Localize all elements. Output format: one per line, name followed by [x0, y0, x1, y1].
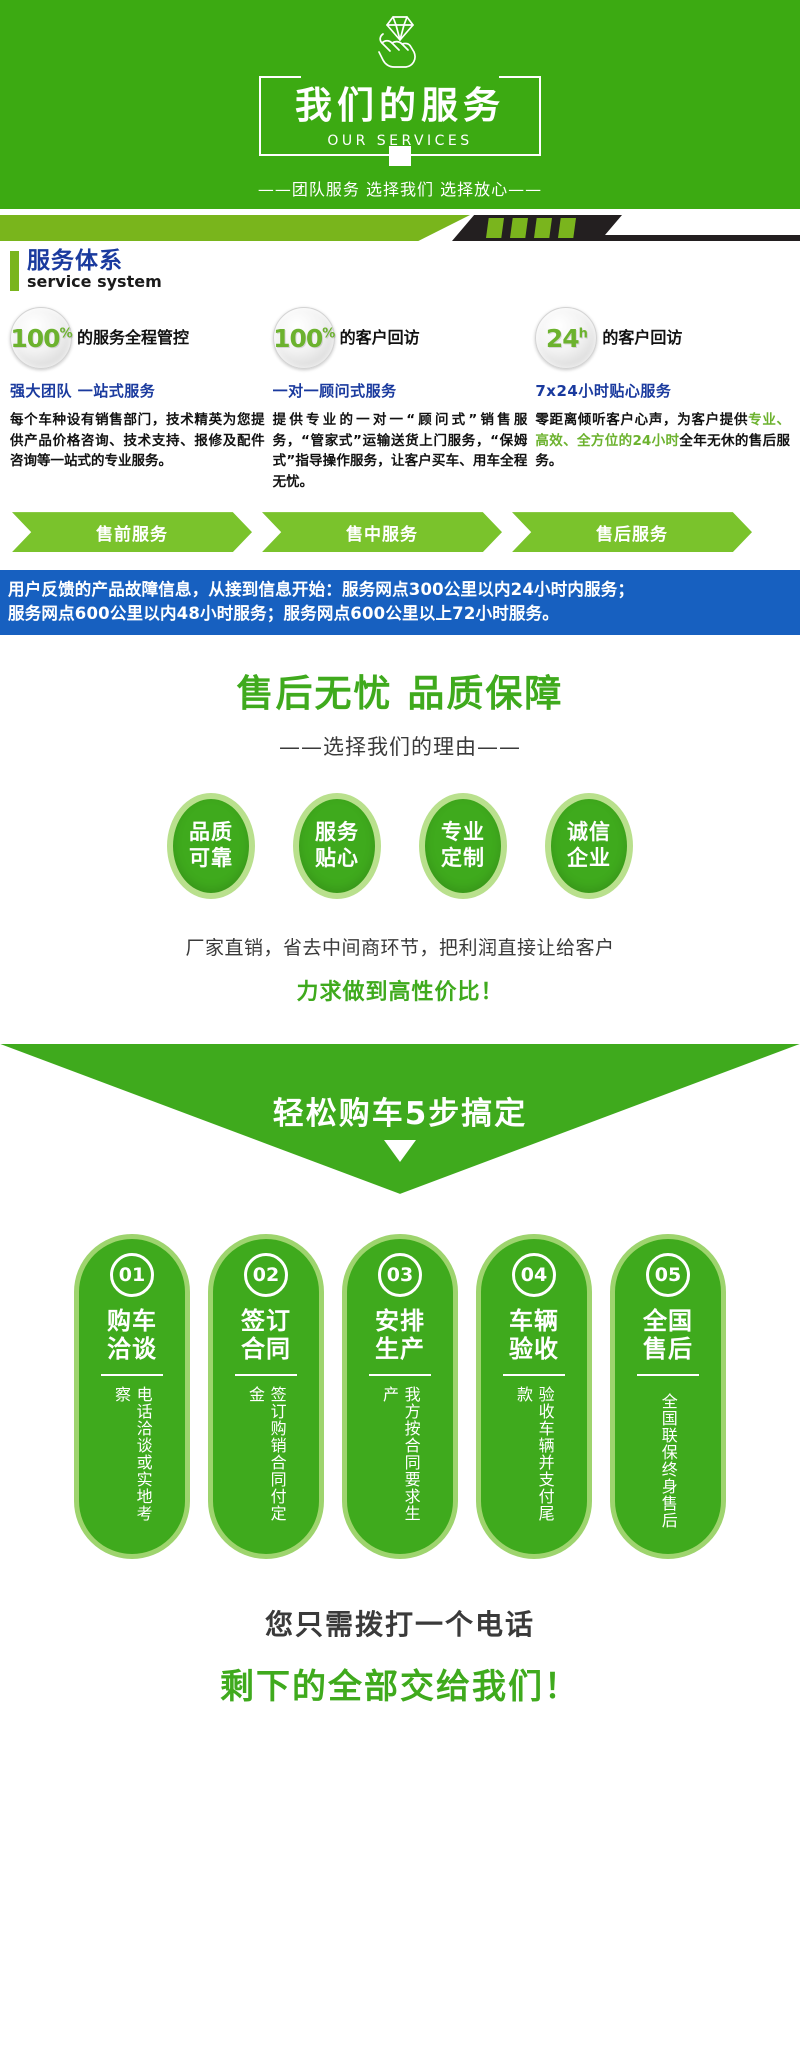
badge-value: 100% [10, 326, 71, 351]
step-title-line1: 全国 [643, 1307, 693, 1335]
step-divider [369, 1374, 431, 1376]
step-divider [235, 1374, 297, 1376]
step-title-line1: 安排 [375, 1307, 425, 1335]
diamond-hand-icon [369, 12, 431, 72]
section-title-en: service system [27, 273, 162, 291]
stripe-dash-3 [534, 218, 552, 238]
step-title: 购车 洽谈 [107, 1307, 157, 1364]
footer-line-2: 剩下的全部交给我们！ [0, 1659, 800, 1708]
price-slogan: 力求做到高性价比！ [0, 974, 800, 1006]
step-title-line2: 验收 [509, 1335, 559, 1363]
chevron-label: 售中服务 [346, 520, 418, 545]
step-title-line2: 售后 [643, 1335, 693, 1363]
step-number: 05 [646, 1253, 690, 1297]
hero-title-frame: 我们的服务 OUR SERVICES [259, 76, 541, 156]
step-description: 签订购销合同付定金 [244, 1386, 287, 1536]
feature-badge-row: 24h 的客户回访 [535, 307, 790, 369]
badge-line-1: 品质 [189, 820, 233, 846]
step-divider [637, 1374, 699, 1376]
metric-badge: 24h [535, 307, 597, 369]
badge-caption: 的客户回访 [340, 329, 420, 347]
feature-body: 每个车种设有销售部门，技术精英为您提供产品价格咨询、技术支持、报修及配件咨询等一… [10, 410, 265, 472]
feature-column-2: 100% 的客户回访 一对一顾问式服务 提供专业的一对一“顾问式”销售服务，“管… [269, 307, 532, 492]
step-title-line2: 生产 [375, 1335, 425, 1363]
frame-left-edge [259, 76, 261, 156]
chevron-presale[interactable]: 售前服务 [12, 512, 252, 552]
feature-column-3: 24h 的客户回访 7x24小时贴心服务 零距离倾听客户心声，为客户提供专业、高… [531, 307, 794, 492]
guarantee-badges: 品质 可靠 服务 贴心 专业 定制 诚信 企业 [0, 793, 800, 899]
chevron-midsale[interactable]: 售中服务 [262, 512, 502, 552]
steps-banner-title: 轻松购车5步搞定 [0, 1088, 800, 1133]
hero-tagline: ——团队服务 选择我们 选择放心—— [258, 176, 542, 200]
price-statement: 厂家直销，省去中间商环节，把利润直接让给客户 [0, 933, 800, 960]
step-number: 01 [110, 1253, 154, 1297]
guarantee-subtitle: ——选择我们的理由—— [0, 731, 800, 761]
badge-unit: % [60, 326, 72, 341]
guarantee-badge-custom: 专业 定制 [419, 793, 507, 899]
badge-line-1: 服务 [315, 820, 359, 846]
notice-line-1: 用户反馈的产品故障信息，从接到信息开始：服务网点300公里以内24小时内服务； [8, 578, 792, 602]
badge-number: 100 [10, 324, 59, 353]
step-number: 04 [512, 1253, 556, 1297]
badge-line-1: 诚信 [567, 820, 611, 846]
header-accent-bar [10, 251, 19, 291]
step-title-line1: 签订 [241, 1307, 291, 1335]
step-item-05[interactable]: 05 全国 售后 全国联保终身售后 [610, 1234, 726, 1559]
stripe-green [0, 215, 470, 241]
decorative-stripe-bar [0, 209, 800, 241]
badge-unit: h [579, 326, 587, 341]
guarantee-badge-quality: 品质 可靠 [167, 793, 255, 899]
badge-number: 24 [546, 324, 579, 353]
guarantee-title: 售后无忧 品质保障 [0, 663, 800, 717]
badge-line-2: 可靠 [189, 846, 233, 872]
guarantee-badge-integrity: 诚信 企业 [545, 793, 633, 899]
triangle-down-icon [384, 1140, 416, 1162]
badge-unit: % [322, 326, 334, 341]
step-item-04[interactable]: 04 车辆 验收 验收车辆并支付尾款 [476, 1234, 592, 1559]
feature-heading: 7x24小时贴心服务 [535, 380, 790, 401]
step-description: 电话洽谈或实地考察 [110, 1386, 153, 1536]
chevron-aftersale[interactable]: 售后服务 [512, 512, 752, 552]
step-title: 签订 合同 [241, 1307, 291, 1364]
stripe-dash-2 [510, 218, 528, 238]
footer-line-1: 您只需拨打一个电话 [0, 1603, 800, 1643]
service-system-header: 服务体系 service system [0, 241, 800, 291]
feature-heading: 强大团队 一站式服务 [10, 380, 265, 401]
badge-caption: 的服务全程管控 [77, 329, 189, 347]
metric-badge: 100% [273, 307, 335, 369]
step-title-line1: 购车 [107, 1307, 157, 1335]
feature-heading: 一对一顾问式服务 [273, 380, 528, 401]
feature-badge-row: 100% 的服务全程管控 [10, 307, 265, 369]
notice-line-2: 服务网点600公里以内48小时服务；服务网点600公里以上72小时服务。 [8, 602, 792, 626]
step-title-line2: 合同 [241, 1335, 291, 1363]
step-number: 02 [244, 1253, 288, 1297]
steps-banner: 轻松购车5步搞定 [0, 1044, 800, 1194]
step-divider [503, 1374, 565, 1376]
step-title-line1: 车辆 [509, 1307, 559, 1335]
step-description: 验收车辆并支付尾款 [512, 1386, 555, 1536]
metric-badge: 100% [10, 307, 72, 369]
step-title: 全国 售后 [643, 1307, 693, 1364]
badge-value: 24h [546, 326, 587, 351]
step-title: 安排 生产 [375, 1307, 425, 1364]
step-title-line2: 洽谈 [107, 1335, 157, 1363]
step-item-02[interactable]: 02 签订 合同 签订购销合同付定金 [208, 1234, 324, 1559]
badge-line-2: 企业 [567, 846, 611, 872]
chevron-label: 售前服务 [96, 520, 168, 545]
feature-body-part1: 零距离倾听客户心声，为客户提供 [535, 412, 748, 428]
step-title: 车辆 验收 [509, 1307, 559, 1364]
chevron-label: 售后服务 [596, 520, 668, 545]
badge-line-2: 定制 [441, 846, 485, 872]
purchase-steps: 01 购车 洽谈 电话洽谈或实地考察 02 签订 合同 签订购销合同付定金 03… [0, 1234, 800, 1559]
section-title-cn: 服务体系 [27, 249, 162, 273]
feature-body: 提供专业的一对一“顾问式”销售服务，“管家式”运输送货上门服务，“保姆式”指导操… [273, 410, 528, 492]
feature-column-1: 100% 的服务全程管控 强大团队 一站式服务 每个车种设有销售部门，技术精英为… [6, 307, 269, 492]
badge-number: 100 [273, 324, 322, 353]
guarantee-badge-service: 服务 贴心 [293, 793, 381, 899]
badge-caption: 的客户回访 [602, 329, 682, 347]
stripe-dash-4 [558, 218, 576, 238]
feature-columns: 100% 的服务全程管控 强大团队 一站式服务 每个车种设有销售部门，技术精英为… [0, 307, 800, 492]
frame-right-edge [539, 76, 541, 156]
step-description: 全国联保终身售后 [657, 1386, 679, 1536]
service-phase-chevrons: 售前服务 售中服务 售后服务 [0, 512, 800, 552]
step-item-01[interactable]: 01 购车 洽谈 电话洽谈或实地考察 [74, 1234, 190, 1559]
page-title: 我们的服务 [295, 87, 505, 124]
step-description: 我方按合同要求生产 [378, 1386, 421, 1536]
step-item-03[interactable]: 03 安排 生产 我方按合同要求生产 [342, 1234, 458, 1559]
step-number: 03 [378, 1253, 422, 1297]
stripe-dash-1 [486, 218, 504, 238]
badge-line-2: 贴心 [315, 846, 359, 872]
feature-badge-row: 100% 的客户回访 [273, 307, 528, 369]
badge-line-1: 专业 [441, 820, 485, 846]
feature-body: 零距离倾听客户心声，为客户提供专业、高效、全方位的24小时全年无休的售后服务。 [535, 410, 790, 472]
step-divider [101, 1374, 163, 1376]
hero-banner: 我们的服务 OUR SERVICES ——团队服务 选择我们 选择放心—— [0, 0, 800, 209]
badge-value: 100% [273, 326, 334, 351]
frame-tab-marker [389, 146, 411, 166]
response-time-notice: 用户反馈的产品故障信息，从接到信息开始：服务网点300公里以内24小时内服务； … [0, 570, 800, 635]
